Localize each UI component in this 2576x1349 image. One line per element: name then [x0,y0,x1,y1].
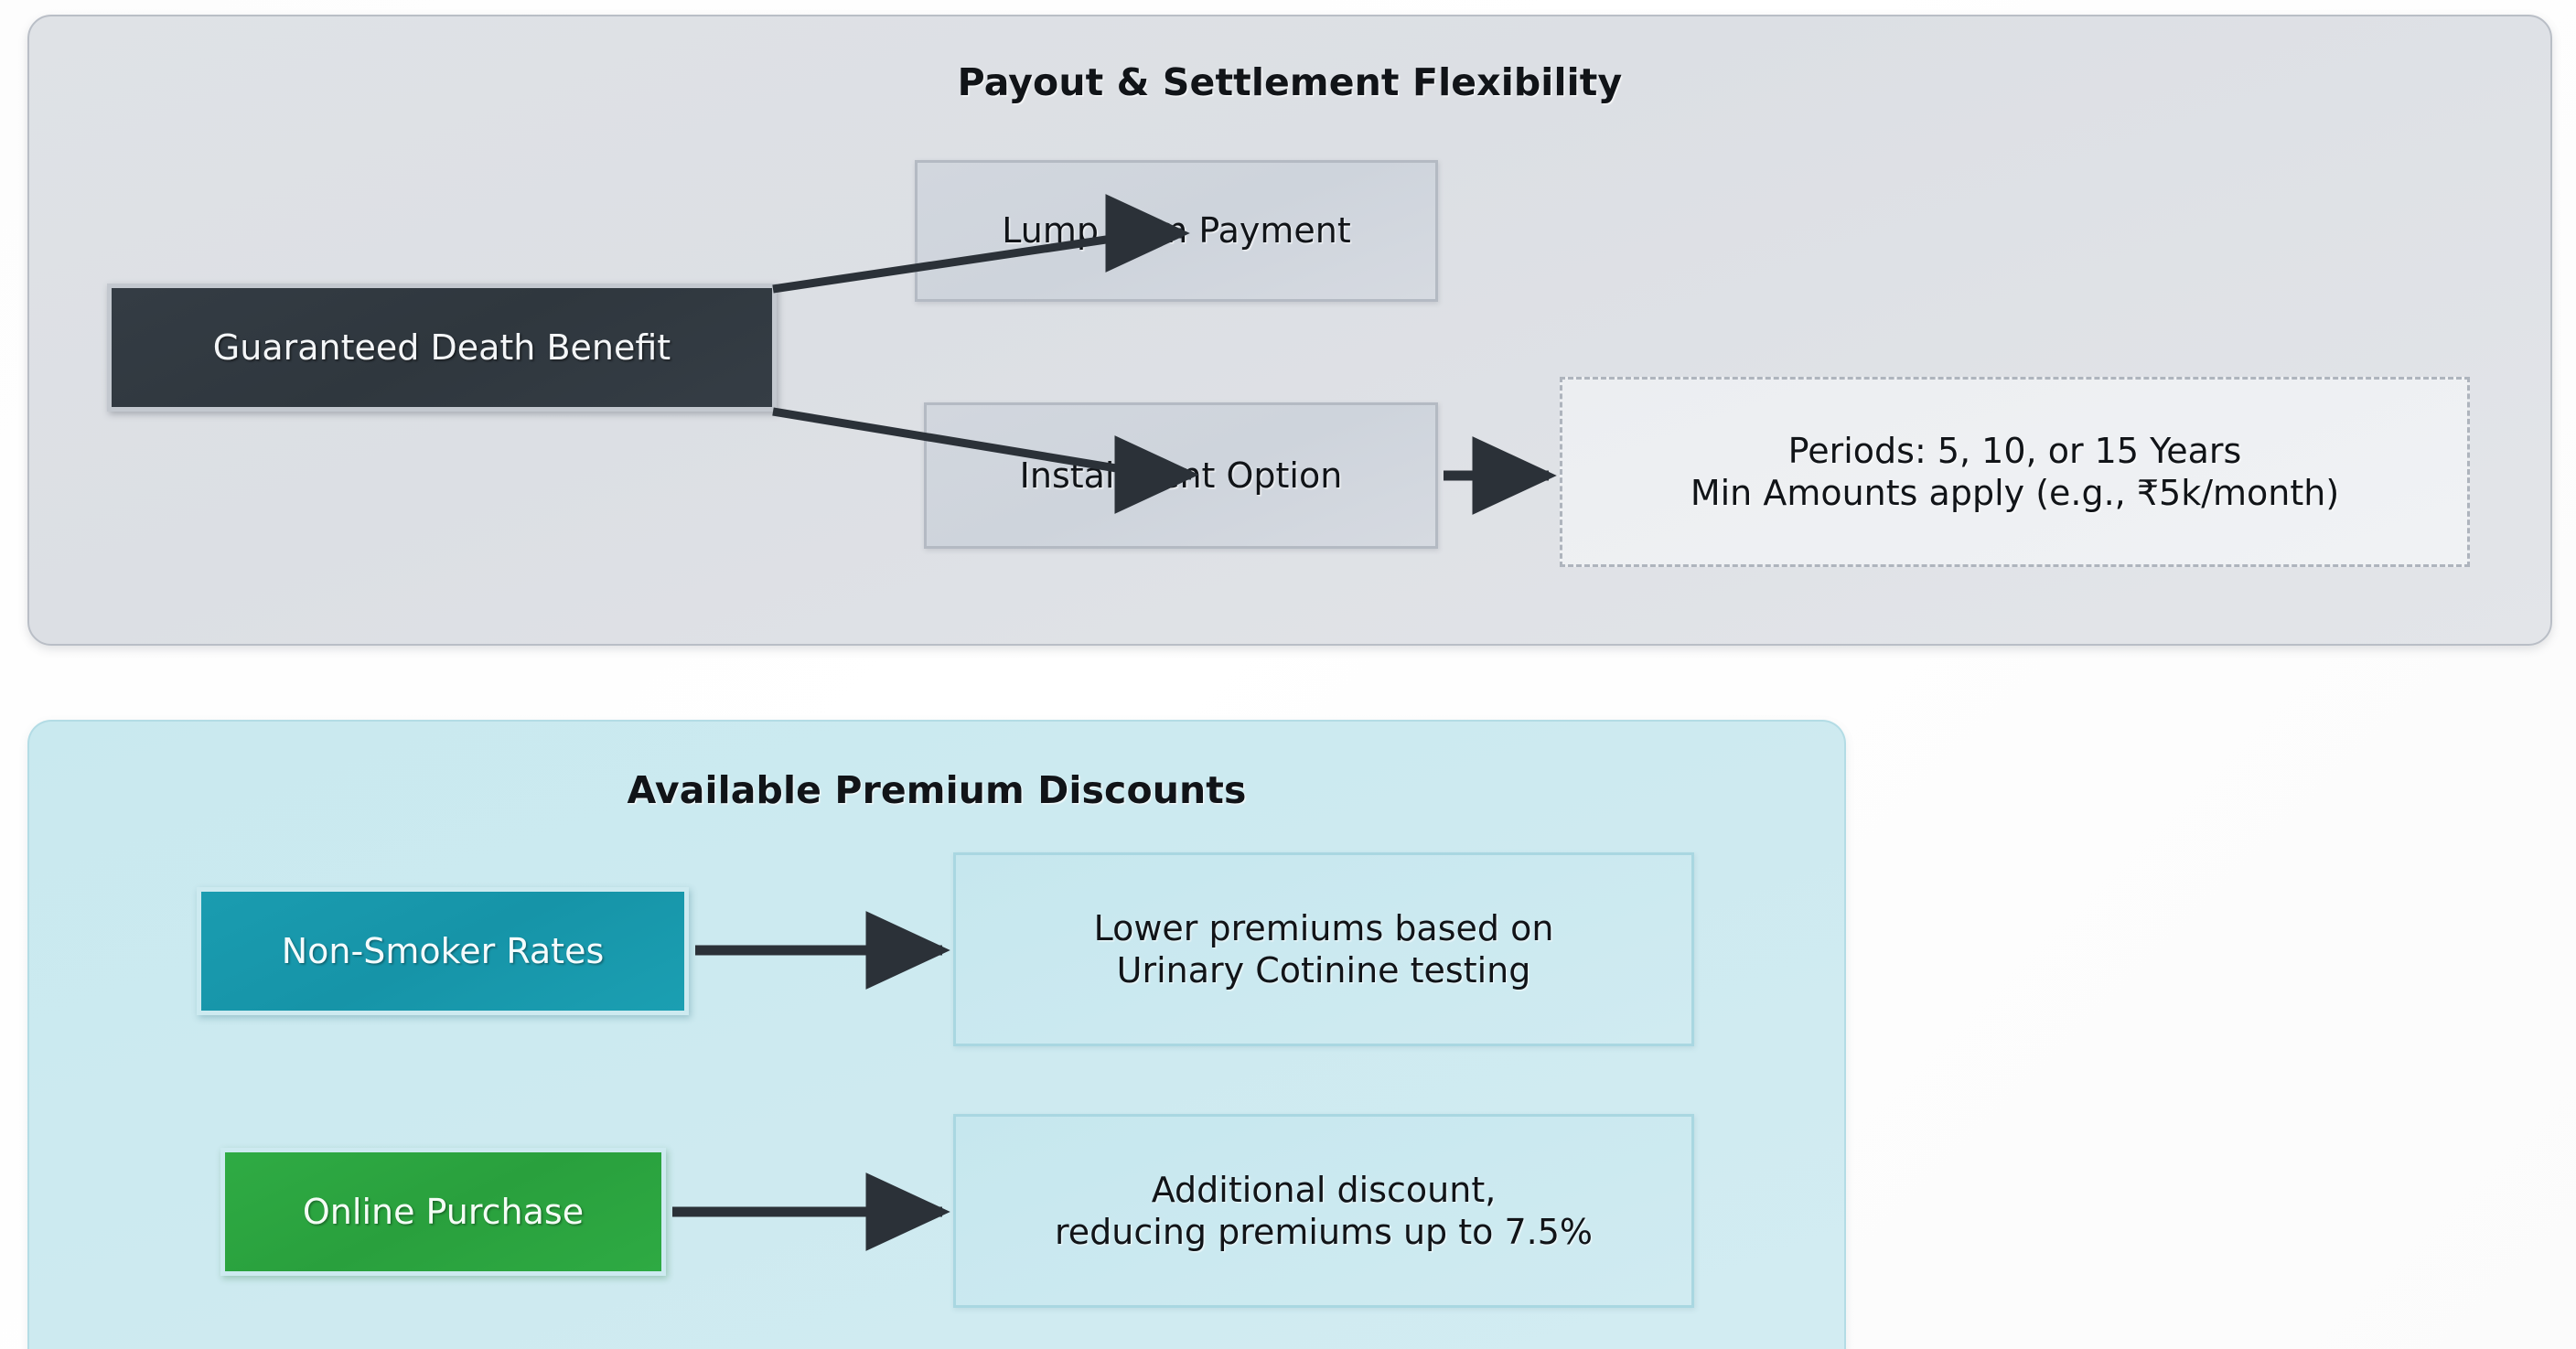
node-lump-sum-payment-label: Lump Sum Payment [1002,209,1350,252]
node-installment-option-label: Installment Option [1020,455,1343,497]
node-guaranteed-death-benefit-label: Guaranteed Death Benefit [213,327,671,369]
node-non-smoker-rates-label: Non-Smoker Rates [282,930,605,972]
online-purchase-desc-line-1: Additional discount, [1152,1169,1497,1211]
node-online-purchase[interactable]: Online Purchase [220,1148,666,1276]
node-online-purchase-label: Online Purchase [303,1191,584,1233]
node-non-smoker-description: Lower premiums based on Urinary Cotinine… [953,852,1694,1046]
diagram-canvas: Payout & Settlement Flexibility Guarante… [0,0,2576,1349]
installment-detail-periods: Periods: 5, 10, or 15 Years [1788,430,2242,472]
node-installment-details: Periods: 5, 10, or 15 Years Min Amounts … [1560,377,2470,567]
installment-detail-min-amounts: Min Amounts apply (e.g., ₹5k/month) [1690,472,2339,514]
panel-discounts-title: Available Premium Discounts [29,768,1844,812]
panel-payout-title: Payout & Settlement Flexibility [29,60,2550,104]
non-smoker-desc-line-1: Lower premiums based on [1094,907,1554,949]
node-installment-option[interactable]: Installment Option [924,402,1438,549]
non-smoker-desc-line-2: Urinary Cotinine testing [1117,949,1531,991]
node-online-purchase-description: Additional discount, reducing premiums u… [953,1114,1694,1308]
node-lump-sum-payment[interactable]: Lump Sum Payment [915,160,1438,302]
node-guaranteed-death-benefit[interactable]: Guaranteed Death Benefit [107,284,777,412]
online-purchase-desc-line-2: reducing premiums up to 7.5% [1055,1211,1593,1253]
node-non-smoker-rates[interactable]: Non-Smoker Rates [197,887,689,1015]
